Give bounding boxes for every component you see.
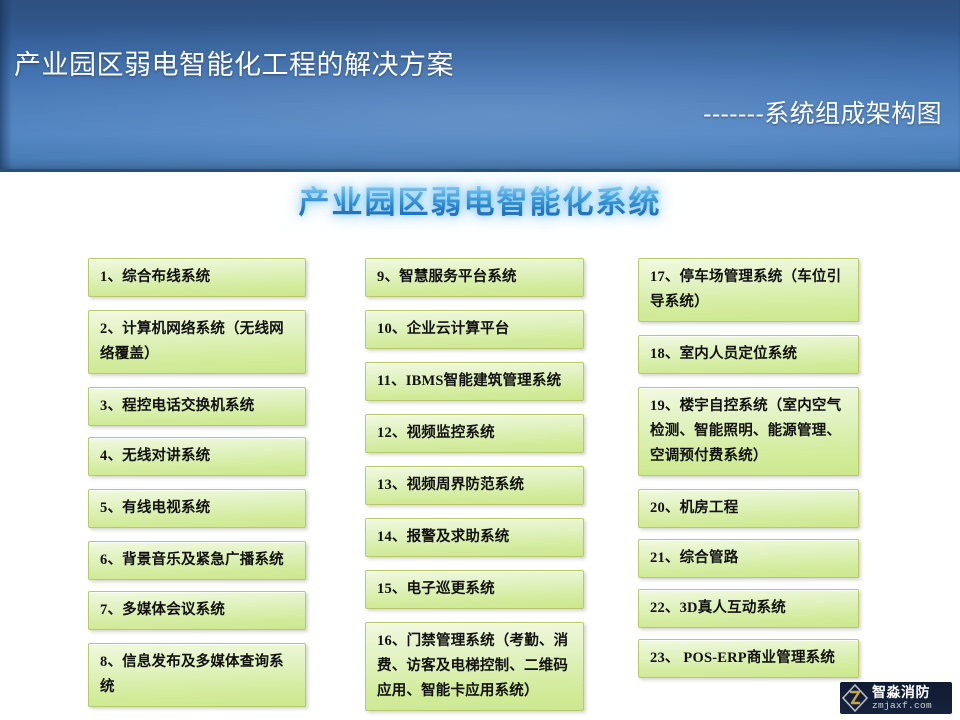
header-left-edge-shade bbox=[0, 0, 12, 172]
list-item[interactable]: 1、综合布线系统 bbox=[88, 258, 306, 297]
list-item[interactable]: 21、综合管路 bbox=[638, 539, 859, 578]
list-item[interactable]: 2、计算机网络系统（无线网 络覆盖） bbox=[88, 310, 306, 374]
spacer bbox=[88, 476, 306, 489]
header-title: 产业园区弱电智能化工程的解决方案 bbox=[14, 48, 454, 82]
page-title: 产业园区弱电智能化系统 bbox=[0, 182, 960, 224]
spacer bbox=[365, 453, 584, 466]
list-item[interactable]: 5、有线电视系统 bbox=[88, 489, 306, 528]
list-item[interactable]: 9、智慧服务平台系统 bbox=[365, 258, 584, 297]
list-item[interactable]: 7、多媒体会议系统 bbox=[88, 591, 306, 630]
spacer bbox=[638, 628, 859, 639]
list-item[interactable]: 12、视频监控系统 bbox=[365, 414, 584, 453]
list-item[interactable]: 3、程控电话交换机系统 bbox=[88, 387, 306, 426]
list-item[interactable]: 23、 POS-ERP商业管理系统 bbox=[638, 639, 859, 678]
watermark-url: zmjaxf.com bbox=[872, 701, 952, 711]
watermark-logo: 智淼消防 zmjaxf.com bbox=[840, 682, 952, 714]
spacer bbox=[638, 322, 859, 335]
header-sheen-overlay bbox=[0, 0, 960, 172]
list-item[interactable]: 14、报警及求助系统 bbox=[365, 518, 584, 557]
system-list-column-3: 17、停车场管理系统（车位引导系统） 18、室内人员定位系统 19、楼宇自控系统… bbox=[638, 258, 859, 678]
spacer bbox=[365, 609, 584, 622]
spacer bbox=[365, 349, 584, 362]
spacer bbox=[88, 528, 306, 541]
list-item[interactable]: 19、楼宇自控系统（室内空气检测、智能照明、能源管理、空调预付费系统） bbox=[638, 387, 859, 476]
list-item[interactable]: 16、门禁管理系统（考勤、消费、访客及电梯控制、二维码应用、智能卡应用系统） bbox=[365, 622, 584, 711]
spacer bbox=[88, 426, 306, 437]
system-list-column-1: 1、综合布线系统 2、计算机网络系统（无线网 络覆盖） 3、程控电话交换机系统 … bbox=[88, 258, 306, 707]
list-item[interactable]: 15、电子巡更系统 bbox=[365, 570, 584, 609]
spacer bbox=[638, 528, 859, 539]
spacer bbox=[365, 557, 584, 570]
spacer bbox=[638, 476, 859, 489]
list-item[interactable]: 22、3D真人互动系统 bbox=[638, 589, 859, 628]
spacer bbox=[88, 630, 306, 643]
spacer bbox=[638, 578, 859, 589]
list-item[interactable]: 20、机房工程 bbox=[638, 489, 859, 528]
slide-root: 产业园区弱电智能化工程的解决方案 -------系统组成架构图 产业园区弱电智能… bbox=[0, 0, 960, 720]
list-item[interactable]: 17、停车场管理系统（车位引导系统） bbox=[638, 258, 859, 322]
spacer bbox=[365, 401, 584, 414]
watermark-text: 智淼消防 zmjaxf.com bbox=[870, 685, 952, 711]
list-item[interactable]: 13、视频周界防范系统 bbox=[365, 466, 584, 505]
spacer bbox=[365, 297, 584, 310]
spacer bbox=[88, 297, 306, 310]
list-item[interactable]: 10、企业云计算平台 bbox=[365, 310, 584, 349]
system-list-column-2: 9、智慧服务平台系统 10、企业云计算平台 11、IBMS智能建筑管理系统 12… bbox=[365, 258, 584, 711]
list-item[interactable]: 6、背景音乐及紧急广播系统 bbox=[88, 541, 306, 580]
header-subtitle: -------系统组成架构图 bbox=[703, 98, 942, 130]
diamond-logo-icon bbox=[840, 683, 870, 713]
list-item[interactable]: 8、信息发布及多媒体查询系统 bbox=[88, 643, 306, 707]
spacer bbox=[88, 374, 306, 387]
watermark-name: 智淼消防 bbox=[872, 685, 952, 699]
header-banner: 产业园区弱电智能化工程的解决方案 -------系统组成架构图 bbox=[0, 0, 960, 172]
spacer bbox=[638, 374, 859, 387]
spacer bbox=[88, 580, 306, 591]
list-item[interactable]: 18、室内人员定位系统 bbox=[638, 335, 859, 374]
spacer bbox=[365, 505, 584, 518]
list-item[interactable]: 11、IBMS智能建筑管理系统 bbox=[365, 362, 584, 401]
list-item[interactable]: 4、无线对讲系统 bbox=[88, 437, 306, 476]
